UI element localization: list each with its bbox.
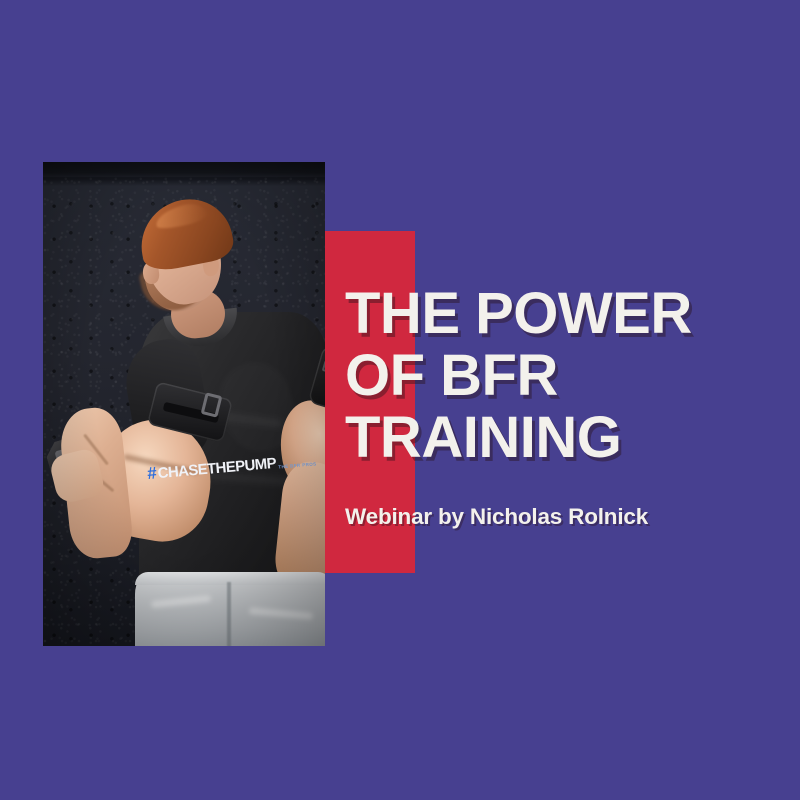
title-line-1: THE POWER [345,283,775,345]
title-line-3: TRAINING [345,407,775,469]
page-title: THE POWER OF BFR TRAINING [345,283,775,469]
sweatpants-seam [227,582,231,646]
presenter-photo: # CHASETHEPUMP THE BFR PROS [43,162,325,646]
promo-canvas: # CHASETHEPUMP THE BFR PROS THE POWER OF… [0,0,800,800]
hashtag-icon: # [147,464,157,482]
subtitle-presenter: Webinar by Nicholas Rolnick [345,504,648,530]
title-line-2: OF BFR [345,345,775,407]
person-figure: # CHASETHEPUMP THE BFR PROS [43,162,325,646]
